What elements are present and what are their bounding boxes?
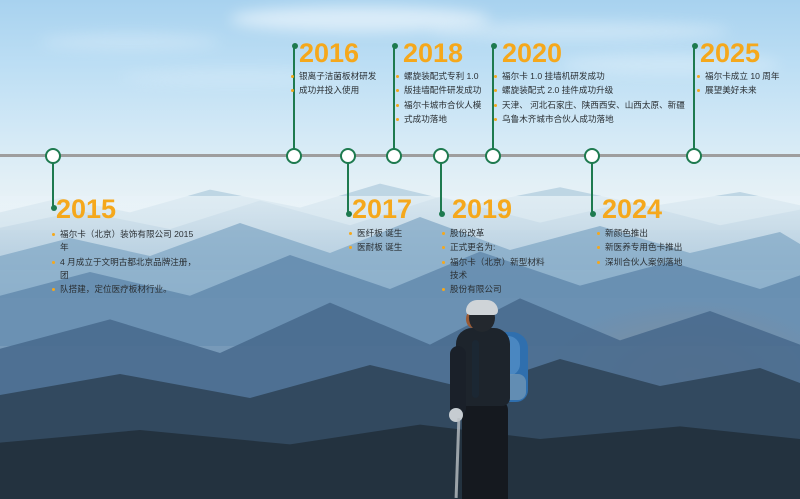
year-label-2016: 2016 xyxy=(299,40,359,67)
year-label-2024: 2024 xyxy=(602,196,662,223)
year-label-2020: 2020 xyxy=(502,40,562,67)
timeline-stem-2019 xyxy=(440,156,442,214)
timeline-marker-2015[interactable] xyxy=(45,148,61,164)
timeline-marker-2016[interactable] xyxy=(286,148,302,164)
timeline-marker-2024[interactable] xyxy=(584,148,600,164)
event-bullet-continuation: 式成功落地 xyxy=(396,113,496,126)
event-bullet-continuation: 4 月成立于文明古都北京品牌注册，团 xyxy=(52,256,202,283)
event-bullet-continuation: 队搭建，定位医疗板材行业。 xyxy=(52,283,202,296)
timeline-marker-2018[interactable] xyxy=(386,148,402,164)
cloud xyxy=(430,22,730,40)
event-details-2017: 医纤板 诞生医耐板 诞生 xyxy=(349,227,449,256)
year-label-2017: 2017 xyxy=(352,196,412,223)
event-bullet: 天津、 河北石家庄、陕西西安、山西太原、新疆 xyxy=(494,99,694,112)
event-bullet-continuation: 成功并投入使用 xyxy=(291,84,391,97)
timeline-stem-endpoint-2018 xyxy=(392,43,398,49)
event-bullet: 新颜色推出 xyxy=(597,227,707,240)
timeline-marker-2020[interactable] xyxy=(485,148,501,164)
event-bullet: 福尔卡成立 10 周年 xyxy=(697,70,800,83)
backpack-strap xyxy=(472,340,479,398)
event-details-2016: 银离子洁菌板材研发成功并投入使用 xyxy=(291,70,391,99)
year-label-2018: 2018 xyxy=(403,40,463,67)
timeline-stem-2025 xyxy=(693,46,695,154)
timeline-stem-2024 xyxy=(591,156,593,214)
hiker-hat xyxy=(466,300,498,315)
event-bullet: 螺旋装配式专利 1.0 xyxy=(396,70,496,83)
timeline-stem-endpoint-2024 xyxy=(590,211,596,217)
event-bullet-continuation: 股份改革 xyxy=(442,227,552,240)
event-details-2018: 螺旋装配式专利 1.0版挂墙配件研发成功福尔卡城市合伙人模式成功落地 xyxy=(396,70,496,127)
event-bullet: 福尔卡城市合伙人模 xyxy=(396,99,496,112)
event-bullet-continuation: 乌鲁木齐城市合伙人成功落地 xyxy=(494,113,694,126)
event-details-2020: 福尔卡 1.0 挂墙机研发成功螺旋装配式 2.0 挂件成功升级天津、 河北石家庄… xyxy=(494,70,694,127)
event-details-2019: 股份改革正式更名为:福尔卡（北京）新型材料技术股份有限公司 xyxy=(442,227,552,298)
year-label-2025: 2025 xyxy=(700,40,760,67)
event-bullet: 深圳合伙人案例落地 xyxy=(597,256,707,269)
event-bullet-continuation: 福尔卡（北京）新型材料技术 xyxy=(442,256,552,283)
year-label-2019: 2019 xyxy=(452,196,512,223)
event-bullet: 医纤板 诞生 xyxy=(349,227,449,240)
event-bullet: 银离子洁菌板材研发 xyxy=(291,70,391,83)
timeline-stem-endpoint-2019 xyxy=(439,211,445,217)
timeline-marker-2025[interactable] xyxy=(686,148,702,164)
timeline-stem-endpoint-2020 xyxy=(491,43,497,49)
cloud xyxy=(40,34,220,50)
event-bullet: 正式更名为: xyxy=(442,241,552,254)
hiker-hand xyxy=(449,408,463,422)
event-bullet: 展望美好未来 xyxy=(697,84,800,97)
hiker-arm xyxy=(450,346,466,416)
event-bullet-continuation: 股份有限公司 xyxy=(442,283,552,296)
timeline-marker-2017[interactable] xyxy=(340,148,356,164)
event-bullet: 医耐板 诞生 xyxy=(349,241,449,254)
event-bullet: 螺旋装配式 2.0 挂件成功升级 xyxy=(494,84,694,97)
event-bullet: 福尔卡 1.0 挂墙机研发成功 xyxy=(494,70,694,83)
timeline-stem-2018 xyxy=(393,46,395,154)
event-details-2025: 福尔卡成立 10 周年展望美好未来 xyxy=(697,70,800,99)
event-bullet: 福尔卡（北京）装饰有限公司 2015 年 xyxy=(52,228,202,255)
event-details-2015: 福尔卡（北京）装饰有限公司 2015 年4 月成立于文明古都北京品牌注册，团队搭… xyxy=(52,228,202,298)
year-label-2015: 2015 xyxy=(56,196,116,223)
hiker-legs xyxy=(462,400,508,499)
timeline-marker-2019[interactable] xyxy=(433,148,449,164)
timeline-infographic: 2015福尔卡（北京）装饰有限公司 2015 年4 月成立于文明古都北京品牌注册… xyxy=(0,0,800,499)
event-bullet-continuation: 版挂墙配件研发成功 xyxy=(396,84,496,97)
trekking-pole xyxy=(455,418,461,498)
event-details-2024: 新颜色推出新医养专用色卡推出深圳合伙人案例落地 xyxy=(597,227,707,270)
timeline-stem-2017 xyxy=(347,156,349,214)
timeline-stem-endpoint-2016 xyxy=(292,43,298,49)
timeline-stem-endpoint-2025 xyxy=(692,43,698,49)
event-bullet: 新医养专用色卡推出 xyxy=(597,241,707,254)
hiker-figure xyxy=(420,300,560,499)
timeline-stem-2016 xyxy=(293,46,295,154)
